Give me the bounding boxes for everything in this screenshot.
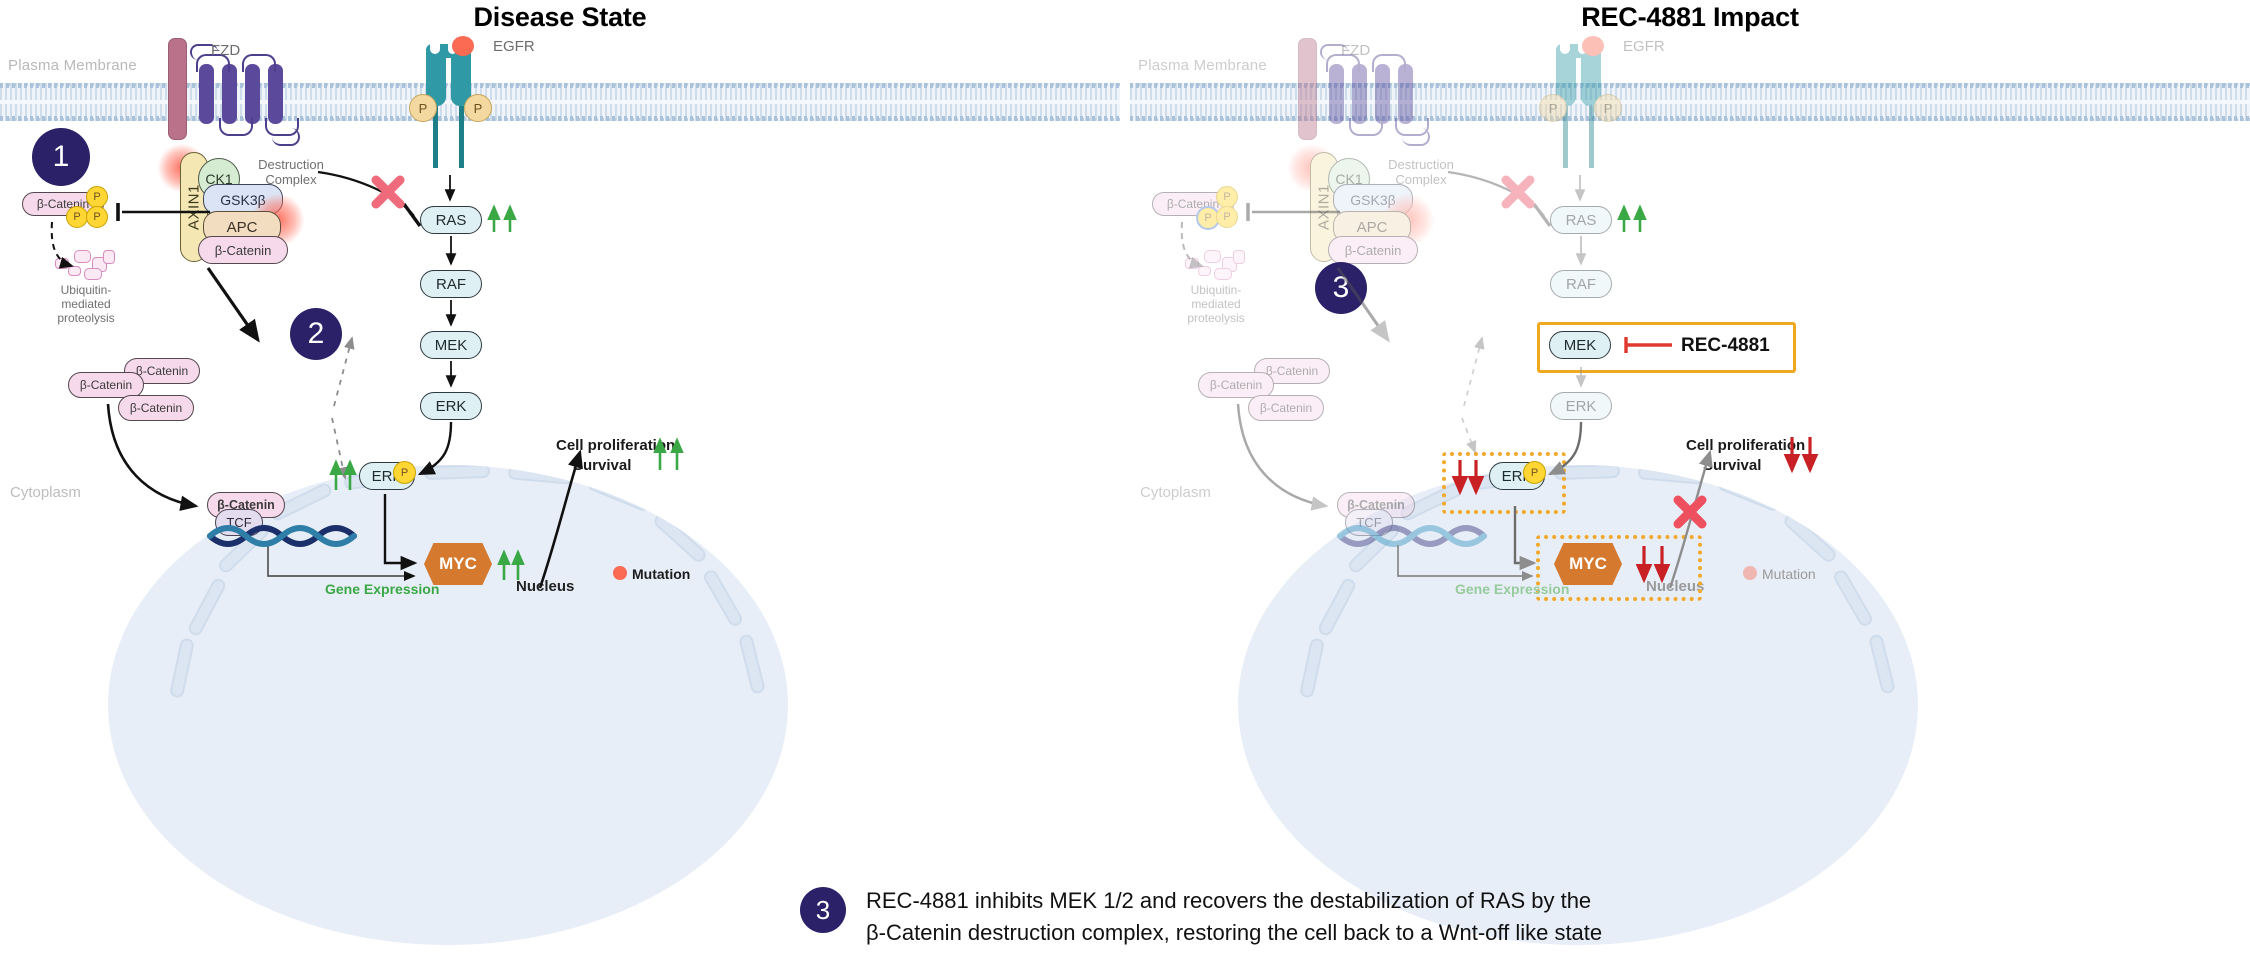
nucleus-label: Nucleus [516, 578, 574, 595]
gene-expression-label-right: Gene Expression [1455, 581, 1569, 597]
node-raf: RAF [420, 270, 482, 298]
egfr-label-right: EGFR [1623, 38, 1665, 55]
lrp-coreceptor [168, 38, 187, 140]
plasma-membrane-label-right: Plasma Membrane [1138, 57, 1267, 74]
nucleus [108, 465, 788, 945]
node-erk: ERK [420, 392, 482, 420]
egfr-mutation-dot [452, 36, 474, 56]
mutation-legend-dot-right [1743, 566, 1757, 580]
destruction-complex-label: Destruction Complex [246, 158, 336, 188]
dest-line2-right: Complex [1395, 172, 1446, 187]
step-badge-3: 3 [1315, 262, 1367, 314]
cell-proliferation-label: Cell proliferation [556, 437, 675, 454]
mutation-legend-label: Mutation [632, 566, 690, 582]
pathway-figure: Disease State Plasma Membrane FZD [0, 0, 2250, 960]
ubi-line2-right: proteolysis [1187, 311, 1244, 325]
node-bcatenin-bound: β-Catenin [198, 236, 288, 264]
phospho-mark-1-right: P [1216, 186, 1238, 208]
egfr-phospho-left-right: P [1539, 94, 1567, 122]
dest-line1: Destruction [258, 157, 324, 172]
figure-caption: 3 REC-4881 inhibits MEK 1/2 and recovers… [800, 885, 2100, 949]
fzd-label: FZD [211, 42, 240, 59]
survival-label: Survival [573, 457, 631, 474]
egfr-phospho-right: P [464, 94, 492, 122]
inhibition-cross-icon [376, 180, 400, 204]
ubi-line1: Ubiquitin-mediated [61, 283, 112, 311]
cytoplasm-label-right: Cytoplasm [1140, 484, 1211, 501]
node-tcf-right: TCF [1345, 509, 1393, 536]
ubiquitin-proteolysis-label: Ubiquitin-mediated proteolysis [36, 284, 136, 325]
node-bcatenin-bound-right: β-Catenin [1328, 236, 1418, 264]
egfr-phospho-right-right: P [1594, 94, 1622, 122]
cell-proliferation-label-right: Cell proliferation [1686, 437, 1805, 454]
panel-title-rec4881: REC-4881 Impact [1130, 2, 2250, 33]
node-erk-right: ERK [1550, 392, 1612, 420]
inhibition-cross-icon-right [1506, 180, 1530, 204]
node-raf-right: RAF [1550, 270, 1612, 298]
panel-title-disease: Disease State [0, 2, 1120, 33]
ubi-line1-right: Ubiquitin-mediated [1191, 283, 1242, 311]
gene-expression-label: Gene Expression [325, 581, 439, 597]
nuclear-erk-phospho: P [393, 461, 416, 484]
caption-text: REC-4881 inhibits MEK 1/2 and recovers t… [866, 885, 1602, 949]
cyto-bcatenin-3: β-Catenin [118, 395, 194, 421]
destruction-complex-label-right: Destruction Complex [1376, 158, 1466, 188]
caption-badge: 3 [800, 887, 846, 933]
rec4881-drug-label: REC-4881 [1681, 335, 1770, 357]
node-tcf: TCF [215, 509, 263, 536]
plasma-membrane-label: Plasma Membrane [8, 57, 137, 74]
phospho-mark-3-right: P [1216, 206, 1238, 228]
node-mek-right: MEK [1549, 331, 1611, 359]
egfr-label: EGFR [493, 38, 535, 55]
panel-disease-state: Disease State Plasma Membrane FZD [0, 0, 1120, 890]
mutation-legend-label-right: Mutation [1762, 566, 1816, 582]
cyto-bcatenin-3-right: β-Catenin [1248, 395, 1324, 421]
node-myc-right: MYC [1554, 543, 1622, 585]
ubiquitin-proteolysis-label-right: Ubiquitin-mediated proteolysis [1166, 284, 1266, 325]
egfr-phospho-left: P [409, 94, 437, 122]
fzd-label-right: FZD [1341, 42, 1370, 59]
mutation-legend-dot [613, 566, 627, 580]
cytoplasm-label: Cytoplasm [10, 484, 81, 501]
caption-line-2: β-Catenin destruction complex, restoring… [866, 920, 1602, 945]
node-myc: MYC [424, 543, 492, 585]
dest-line1-right: Destruction [1388, 157, 1454, 172]
caption-line-1: REC-4881 inhibits MEK 1/2 and recovers t… [866, 888, 1591, 913]
panel-rec4881-impact: REC-4881 Impact Plasma Membrane [1130, 0, 2250, 890]
phospho-mark-1: P [86, 186, 108, 208]
phospho-mark-3: P [86, 206, 108, 228]
dest-line2: Complex [265, 172, 316, 187]
phospho-mark-2: P [66, 206, 88, 228]
ubi-line2: proteolysis [57, 311, 114, 325]
survival-label-right: Survival [1703, 457, 1761, 474]
step-badge-1: 1 [32, 128, 90, 186]
node-ras: RAS [420, 206, 482, 234]
node-mek: MEK [420, 331, 482, 359]
node-ras-right: RAS [1550, 206, 1612, 234]
nuclear-erk-phospho-right: P [1523, 461, 1546, 484]
step-badge-2: 2 [290, 308, 342, 360]
